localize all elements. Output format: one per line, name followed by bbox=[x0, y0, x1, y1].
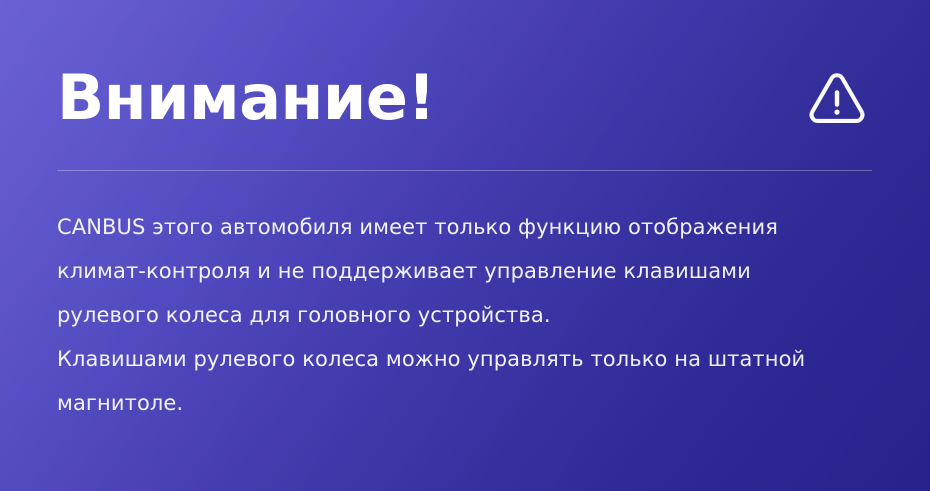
body-line: рулевого колеса для головного устройства… bbox=[57, 293, 887, 337]
banner-body: CANBUS этого автомобиля имеет только фун… bbox=[57, 205, 887, 425]
body-line: магнитоле. bbox=[57, 381, 887, 425]
body-line: CANBUS этого автомобиля имеет только фун… bbox=[57, 205, 887, 249]
page-title: Внимание! bbox=[57, 67, 435, 129]
header-divider bbox=[57, 170, 872, 171]
warning-triangle-icon bbox=[806, 67, 868, 129]
body-line: Клавишами рулевого колеса можно управлят… bbox=[57, 337, 887, 381]
warning-banner: Внимание! CANBUS этого автомобиля имеет … bbox=[0, 0, 930, 491]
banner-header: Внимание! bbox=[57, 52, 872, 144]
body-line: климат-контроля и не поддерживает управл… bbox=[57, 249, 887, 293]
